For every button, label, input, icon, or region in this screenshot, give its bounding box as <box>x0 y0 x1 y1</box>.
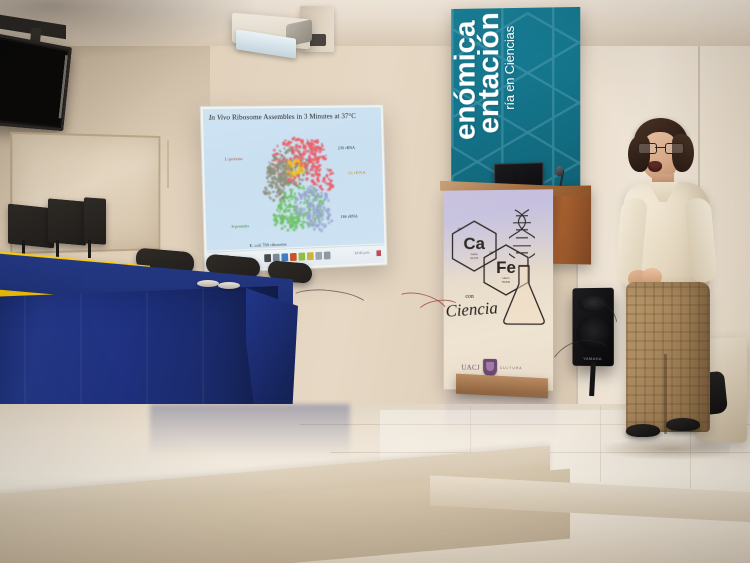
flask-icon <box>501 264 547 326</box>
stacked-chair <box>48 198 86 245</box>
uacj-logo-subtext: CULTURA <box>500 366 523 370</box>
uacj-logo-text: UACJ <box>461 363 479 371</box>
chair-leg <box>88 240 91 258</box>
presenter-trousers <box>626 282 710 432</box>
presentation-slide: In Vivo Ribosome Assembles in 3 Minutes … <box>203 107 385 251</box>
presentation-room-photo: In Vivo Ribosome Assembles in 3 Minutes … <box>0 0 750 563</box>
slide-label-16s-rrna: 16S rRNA <box>340 214 357 219</box>
explorer-icon[interactable] <box>281 253 288 261</box>
app-icon[interactable] <box>315 252 322 260</box>
eyeglass-lens-left <box>638 143 657 154</box>
ribosome-structure-image <box>248 133 342 237</box>
table-dish <box>197 280 219 287</box>
iron-atomic-number: 26 <box>489 251 493 255</box>
presenter-hair-left <box>628 136 650 172</box>
app-icon[interactable] <box>307 252 314 260</box>
slide-label-s-proteins: S-proteins <box>231 223 249 229</box>
taskbar-clock: 12:41 p.m. <box>354 251 370 256</box>
calcium-atomic-number: 20 <box>457 227 461 231</box>
eyeglass-bridge <box>655 147 665 148</box>
powerpoint-icon[interactable] <box>290 253 297 261</box>
projection-screen: In Vivo Ribosome Assembles in 3 Minutes … <box>200 104 388 274</box>
table-dish <box>218 282 240 289</box>
slide-label-l-proteins: L-proteins <box>225 156 243 161</box>
slide-title: In Vivo Ribosome Assembles in 3 Minutes … <box>209 111 378 122</box>
presenter <box>604 118 724 448</box>
notification-icon[interactable] <box>376 250 381 256</box>
slide-title-italic: In Vivo <box>209 113 231 122</box>
cafe-con-ciencia-poster: 20 Ca Calcio 40.078 26 Fe Hierro 55.845 … <box>444 189 553 390</box>
stacked-chair <box>84 197 106 245</box>
microphone-icon[interactable] <box>556 166 563 176</box>
screen-surface: In Vivo Ribosome Assembles in 3 Minutes … <box>200 104 388 274</box>
slide-label-23s-rrna: 23S rRNA <box>338 145 355 150</box>
wall-television[interactable] <box>0 33 72 131</box>
wall-cable <box>167 140 169 188</box>
presenter-mouth <box>648 161 662 172</box>
slide-caption: E. coli 70S ribosome <box>249 242 286 248</box>
dna-helix-icon <box>509 208 535 270</box>
chair-leg <box>56 240 59 258</box>
eyeglass-lens-right <box>665 143 684 154</box>
slide-label-5s-rrna: 5S rRNA <box>348 171 366 176</box>
taskbar-notification-badge[interactable] <box>376 250 381 256</box>
slide-title-rest: Ribosome Assembles in 3 Minutes at 37°C <box>230 111 356 121</box>
presenter-shoe-right <box>666 418 700 431</box>
banner-line-3: enómica <box>451 20 482 140</box>
windows-start-icon[interactable] <box>264 254 271 262</box>
television-screen <box>0 39 67 126</box>
app-icon[interactable] <box>324 251 331 259</box>
excel-icon[interactable] <box>298 253 305 261</box>
table-floor-reflection <box>150 404 350 468</box>
uacj-crest-icon <box>483 359 497 376</box>
eyeglasses-icon <box>638 143 682 152</box>
presenter-shoe-left <box>626 424 660 437</box>
